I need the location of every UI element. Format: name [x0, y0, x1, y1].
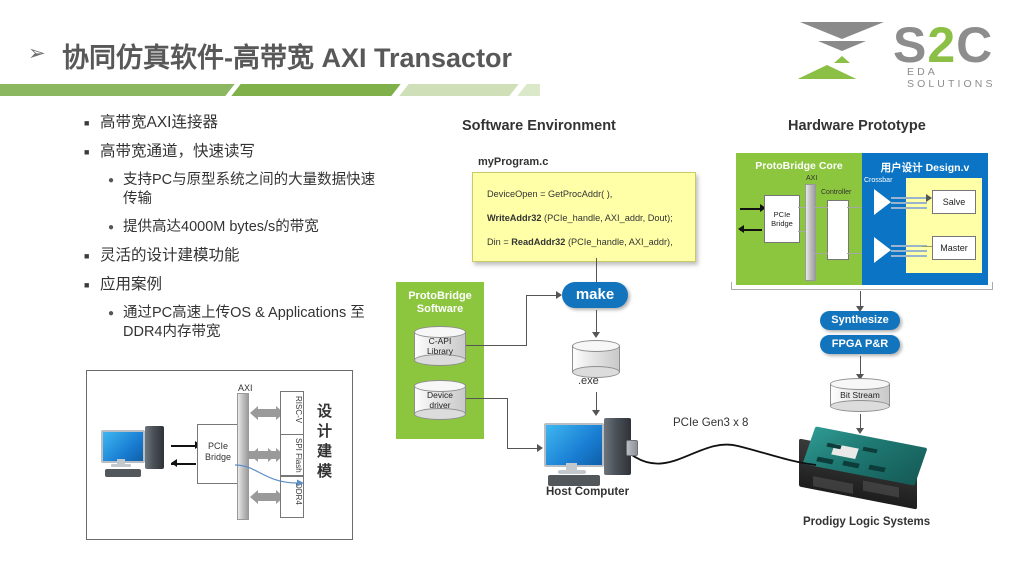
exe-artifact-cylinder: [572, 340, 620, 378]
code-fn-name: WriteAddr32: [487, 213, 541, 223]
s2c-logo: S2C EDA SOLUTIONS: [795, 18, 995, 86]
driver-to-host-line-v: [507, 398, 508, 448]
source-file-label: myProgram.c: [478, 156, 548, 168]
make-to-exe-line: [596, 310, 597, 334]
master-to-crossbar-line-3: [891, 255, 927, 257]
make-inbound-line: [526, 295, 558, 296]
core-pcie-bridge-label-2: Bridge: [771, 219, 793, 228]
bus-to-riscv-arrow-icon: [257, 409, 277, 417]
crossbar-bottom-icon: [874, 237, 891, 263]
hardware-prototype-tick-left: [731, 282, 732, 290]
capi-library-cylinder: C-API Library: [414, 326, 466, 366]
header-accent-bar: [0, 84, 540, 96]
crossbar-to-slave-line-1: [891, 197, 927, 199]
code-text: (PCIe_handle, AXI_addr),: [565, 237, 672, 247]
prodigy-board-label: Prodigy Logic Systems: [803, 516, 930, 528]
bullet-marker-dot-icon: ●: [108, 304, 123, 323]
feature-bullet-list: ■高带宽AXI连接器 ■高带宽通道，快速读写 ●支持PC与原型系统之间的大量数据…: [84, 113, 384, 351]
bridge-to-pc-arrow-icon: [171, 459, 177, 467]
core-bus-controller-line-top: [814, 207, 828, 208]
design-modeling-diagram: PCIe Bridge AXI RISC-V SPI Flash DDR4 设计…: [86, 370, 353, 540]
exe-to-host-arrow-icon: [592, 410, 600, 416]
capi-to-make-line-v: [526, 295, 527, 346]
code-line: DeviceOpen = GetProcAddr( ),: [487, 189, 612, 199]
code-text: Din =: [487, 237, 511, 247]
exe-to-host-line: [596, 392, 597, 412]
bullet-text: 应用案例: [100, 275, 162, 295]
bullet-text: 提供高达4000M bytes/s的带宽: [123, 218, 319, 237]
driver-to-host-arrow-icon: [537, 444, 543, 452]
logo-funnel-mid-icon: [818, 41, 866, 51]
core-pcie-bridge-label-1: PCIe: [774, 210, 791, 219]
synthesize-step-pill[interactable]: Synthesize: [820, 311, 900, 330]
capi-library-label: C-API Library: [414, 336, 466, 356]
protobridge-software-box: ProtoBridge Software C-API Library Devic…: [396, 282, 484, 439]
bitstream-label: Bit Stream: [830, 390, 890, 400]
crossbar-top-icon: [874, 189, 891, 215]
hardware-prototype-title: Hardware Prototype: [788, 118, 926, 134]
crossbar-to-slave-line-2: [891, 202, 927, 204]
bullet-marker-dot-icon: ●: [108, 171, 123, 190]
hardware-prototype-diagram: ProtoBridge Core PCIe Bridge AXI Control…: [731, 148, 993, 290]
logo-letter-c: C: [956, 17, 993, 73]
cable-connector-icon: [626, 440, 638, 456]
device-driver-label: Device driver: [414, 390, 466, 410]
bridge-to-ddr4-curve-icon: [235, 463, 305, 493]
bullet-marker-square-icon: ■: [84, 142, 100, 162]
list-item: ●支持PC与原型系统之间的大量数据快速传输: [108, 171, 384, 209]
bullet-text: 通过PC高速上传OS & Applications 至DDR4内存带宽: [123, 304, 384, 342]
hardware-prototype-tick-right: [992, 282, 993, 290]
bullet-text: 灵活的设计建模功能: [100, 246, 240, 266]
logo-tagline: EDA SOLUTIONS: [907, 66, 996, 90]
bullet-marker-square-icon: ■: [84, 275, 100, 295]
bullet-marker-square-icon: ■: [84, 113, 100, 133]
host-computer-label: Host Computer: [546, 486, 629, 498]
bullet-text: 高带宽AXI连接器: [100, 113, 218, 133]
list-item: ■灵活的设计建模功能: [84, 246, 384, 266]
code-note-card: DeviceOpen = GetProcAddr( ), WriteAddr32…: [472, 172, 696, 262]
peripheral-label-riscv: RISC-V: [281, 396, 303, 423]
core-bridge-bus-line-bottom: [798, 231, 806, 232]
bullet-marker-dot-icon: ●: [108, 218, 123, 237]
logo-funnel-top-icon: [800, 22, 884, 39]
core-pcie-bridge-block: PCIe Bridge: [764, 195, 800, 243]
title-bullet-icon: ➢: [28, 41, 46, 66]
slave-block: Salve: [932, 190, 976, 214]
capi-to-make-line-h: [466, 345, 526, 346]
core-bridge-bus-line-top: [798, 207, 806, 208]
user-design-title: 用户设计 Design.v: [862, 160, 988, 175]
device-driver-cylinder: Device driver: [414, 380, 466, 420]
master-to-crossbar-line-2: [891, 250, 927, 252]
make-to-exe-arrow-icon: [592, 332, 600, 338]
logo-letter-2: 2: [927, 17, 956, 73]
core-in-line: [740, 208, 762, 210]
core-axi-bus-bar: [805, 184, 816, 281]
core-bus-controller-line-bottom: [814, 253, 828, 254]
pcie-bridge-block: PCIe Bridge: [197, 424, 239, 484]
code-text: DeviceOpen = GetProcAddr( ),: [487, 189, 612, 199]
core-axi-label: AXI: [806, 175, 817, 182]
exe-label: .exe: [578, 375, 599, 387]
core-controller-block: [827, 200, 849, 260]
diagram-pc-icon: [101, 426, 171, 481]
core-out-arrow-icon: [738, 225, 744, 233]
list-item: ●提供高达4000M bytes/s的带宽: [108, 218, 384, 237]
code-text: (PCIe_handle, AXI_addr, Dout);: [541, 213, 672, 223]
note-to-make-line: [596, 258, 597, 284]
bus-to-ddr4-arrow-icon: [257, 493, 277, 501]
make-step-pill[interactable]: make: [562, 282, 628, 308]
pcie-bridge-label-line2: Bridge: [205, 452, 231, 462]
master-block: Master: [932, 236, 976, 260]
list-item: ■应用案例: [84, 275, 384, 295]
pcie-cable: [630, 430, 820, 480]
protobridge-software-title: ProtoBridge Software: [396, 290, 484, 316]
bullet-text: 高带宽通道，快速读写: [100, 142, 255, 162]
logo-funnel-bottom-icon: [798, 65, 857, 79]
core-controller-label: Controller: [821, 189, 851, 196]
bus-to-spiflash-arrow-icon: [257, 451, 277, 459]
driver-to-host-line-h2: [507, 448, 539, 449]
software-environment-title: Software Environment: [462, 118, 616, 134]
bullet-marker-square-icon: ■: [84, 246, 100, 266]
logo-letter-s: S: [893, 17, 927, 73]
axi-bus-label: AXI: [238, 383, 253, 393]
protobridge-core-region: ProtoBridge Core PCIe Bridge AXI Control…: [736, 153, 862, 285]
hardware-prototype-underline: [731, 289, 993, 290]
bullet-text: 支持PC与原型系统之间的大量数据快速传输: [123, 171, 384, 209]
pc-to-bridge-line: [171, 445, 196, 447]
crossbar-to-slave-line-3: [891, 207, 927, 209]
crossbar-label: Crossbar: [864, 177, 892, 184]
code-line: Din = ReadAddr32 (PCIe_handle, AXI_addr)…: [487, 237, 673, 247]
pcie-cable-label: PCIe Gen3 x 8: [673, 417, 748, 429]
pcie-bridge-label-line1: PCIe: [208, 441, 228, 451]
list-item: ■高带宽AXI连接器: [84, 113, 384, 133]
user-design-region: 用户设计 Design.v Crossbar Salve Master: [862, 153, 988, 285]
driver-to-host-line-h: [466, 398, 507, 399]
pnr-to-bitstream-line: [860, 356, 861, 376]
protobridge-core-title: ProtoBridge Core: [736, 160, 862, 172]
peripheral-block-riscv: RISC-V: [280, 391, 304, 435]
code-line: WriteAddr32 (PCIe_handle, AXI_addr, Dout…: [487, 213, 673, 223]
page-title: 协同仿真软件-高带宽 AXI Transactor: [62, 36, 512, 75]
list-item: ■高带宽通道，快速读写: [84, 142, 384, 162]
logo-funnel-dot-icon: [834, 56, 850, 63]
bitstream-cylinder: Bit Stream: [830, 378, 890, 412]
axi-bus-bar: [237, 393, 249, 520]
code-fn-name: ReadAddr32: [511, 237, 565, 247]
design-modeling-side-label: 设计建模: [313, 403, 334, 483]
fpga-pnr-step-pill[interactable]: FPGA P&R: [820, 335, 900, 354]
list-item: ●通过PC高速上传OS & Applications 至DDR4内存带宽: [108, 304, 384, 342]
